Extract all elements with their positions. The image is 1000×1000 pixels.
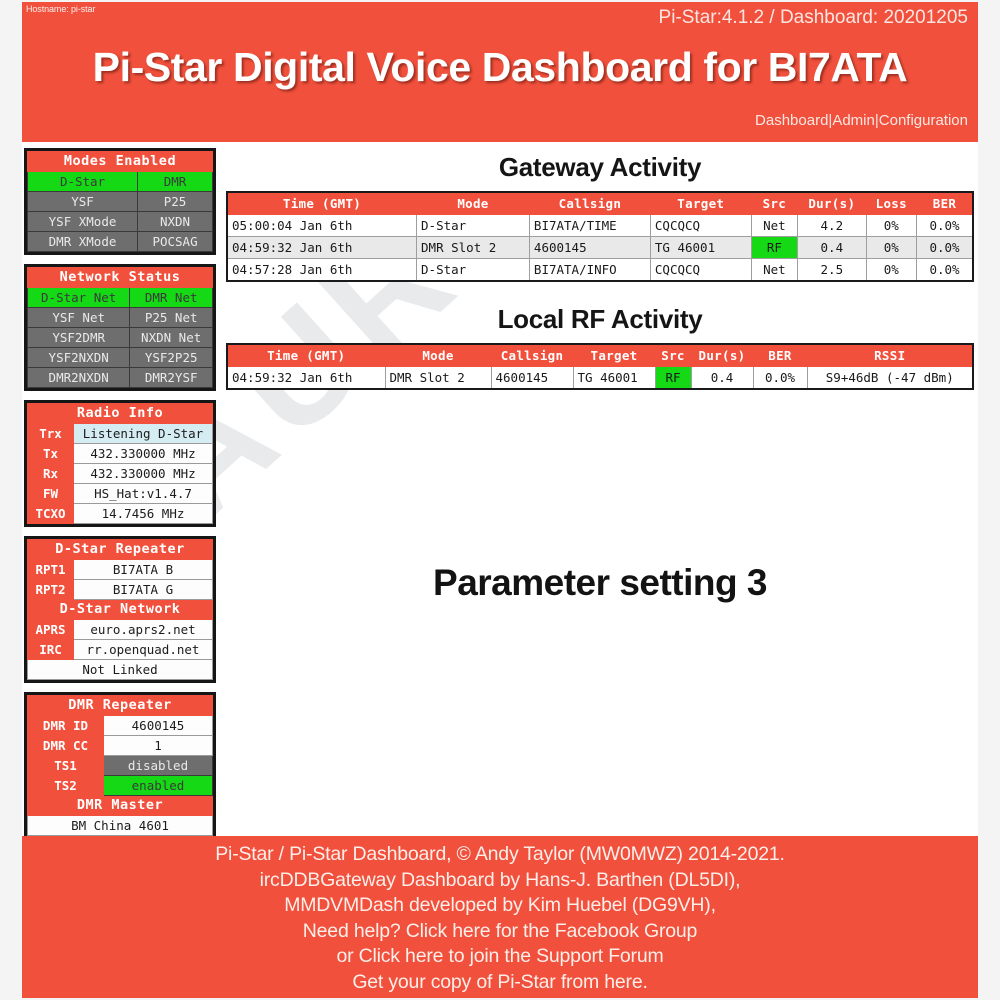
local-rf-activity-table: Time (GMT) Mode Callsign Target Src Dur(… — [226, 343, 974, 390]
panel-title-dstar-network: D-Star Network — [28, 600, 213, 620]
net-dmr2ysf: DMR2YSF — [130, 368, 213, 388]
dmr-master-value: BM China 4601 — [28, 816, 213, 836]
gw-r0-callsign[interactable]: BI7ATA/TIME — [529, 215, 650, 237]
gw-r0-ber: 0.0% — [916, 215, 973, 237]
dstar-value-irc: rr.openquad.net — [74, 640, 213, 660]
panel-radio-info: Radio Info Trx Listening D-Star Tx 432.3… — [24, 400, 216, 527]
table-row: 04:59:32 Jan 6th DMR Slot 2 4600145 TG 4… — [227, 367, 973, 390]
gw-r2-mode: D-Star — [417, 259, 530, 282]
mode-p25: P25 — [138, 192, 213, 212]
radio-label-tx: Tx — [28, 444, 74, 464]
gw-r1-callsign[interactable]: 4600145 — [529, 237, 650, 259]
rf-r0-mode: DMR Slot 2 — [385, 367, 491, 390]
gw-r0-time: 05:00:04 Jan 6th — [227, 215, 417, 237]
gw-r0-mode: D-Star — [417, 215, 530, 237]
mode-ysf-xmode: YSF XMode — [28, 212, 138, 232]
page-title: Pi-Star Digital Voice Dashboard for BI7A… — [22, 44, 978, 91]
table-row: 05:00:04 Jan 6th D-Star BI7ATA/TIME CQCQ… — [227, 215, 973, 237]
panel-dmr: DMR Repeater DMR ID 4600145 DMR CC 1 TS1… — [24, 692, 216, 836]
radio-value-tcxo: 14.7456 MHz — [74, 504, 213, 524]
dmr-label-cc: DMR CC — [28, 736, 104, 756]
gw-col-target: Target — [650, 192, 751, 215]
sidebar: Modes Enabled D-Star DMR YSF P25 YSF XMo… — [24, 148, 216, 836]
overlay-note: Parameter setting 3 — [222, 562, 978, 604]
radio-label-fw: FW — [28, 484, 74, 504]
dmr-value-ts2: enabled — [104, 776, 213, 796]
footer-link-get-copy[interactable]: Get your copy of Pi-Star from here. — [22, 970, 978, 996]
gw-r0-dur: 4.2 — [798, 215, 867, 237]
gateway-activity-table: Time (GMT) Mode Callsign Target Src Dur(… — [226, 191, 974, 282]
mode-dstar: D-Star — [28, 172, 138, 192]
mode-nxdn: NXDN — [138, 212, 213, 232]
net-ysf2dmr: YSF2DMR — [28, 328, 130, 348]
table-header-row: Time (GMT) Mode Callsign Target Src Dur(… — [227, 192, 973, 215]
footer-line-mmdvmdash: MMDVMDash developed by Kim Huebel (DG9VH… — [22, 893, 978, 919]
gw-r1-src: RF — [751, 237, 797, 259]
rf-col-target: Target — [573, 344, 655, 367]
gw-r2-src: Net — [751, 259, 797, 282]
rf-col-src: Src — [655, 344, 691, 367]
gw-col-mode: Mode — [417, 192, 530, 215]
rf-r0-callsign[interactable]: 4600145 — [491, 367, 573, 390]
main-content: Gateway Activity Time (GMT) Mode Callsig… — [222, 142, 978, 836]
table-row: 04:57:28 Jan 6th D-Star BI7ATA/INFO CQCQ… — [227, 259, 973, 282]
panel-network-status: Network Status D-Star Net DMR Net YSF Ne… — [24, 264, 216, 391]
gw-r2-ber: 0.0% — [916, 259, 973, 282]
rf-r0-ber: 0.0% — [753, 367, 807, 390]
net-p25: P25 Net — [130, 308, 213, 328]
nav-link-admin[interactable]: Admin — [832, 112, 875, 129]
nav-links: Dashboard|Admin|Configuration — [755, 112, 968, 129]
rf-r0-dur: 0.4 — [691, 367, 753, 390]
net-nxdn: NXDN Net — [130, 328, 213, 348]
net-dmr2nxdn: DMR2NXDN — [28, 368, 130, 388]
dashboard-shell: Hostname: pi-star Pi-Star:4.1.2 / Dashbo… — [22, 2, 978, 998]
panel-title-modes-enabled: Modes Enabled — [28, 152, 213, 172]
footer-link-support-forum[interactable]: or Click here to join the Support Forum — [22, 944, 978, 970]
gw-r1-target: TG 46001 — [650, 237, 751, 259]
panel-title-dmr-master: DMR Master — [28, 796, 213, 816]
net-dmr: DMR Net — [130, 288, 213, 308]
panel-modes-enabled: Modes Enabled D-Star DMR YSF P25 YSF XMo… — [24, 148, 216, 255]
gateway-activity-title: Gateway Activity — [222, 142, 978, 191]
gw-r2-dur: 2.5 — [798, 259, 867, 282]
dstar-label-aprs: APRS — [28, 620, 74, 640]
net-ysf: YSF Net — [28, 308, 130, 328]
panel-title-dstar-repeater: D-Star Repeater — [28, 540, 213, 560]
panel-title-dmr-repeater: DMR Repeater — [28, 696, 213, 716]
panel-title-radio-info: Radio Info — [28, 404, 213, 424]
gw-r2-time: 04:57:28 Jan 6th — [227, 259, 417, 282]
gw-r0-loss: 0% — [866, 215, 916, 237]
mode-dmr-xmode: DMR XMode — [28, 232, 138, 252]
footer-line-copyright: Pi-Star / Pi-Star Dashboard, © Andy Tayl… — [22, 842, 978, 868]
net-dstar: D-Star Net — [28, 288, 130, 308]
dstar-value-rpt1: BI7ATA B — [74, 560, 213, 580]
gw-r2-loss: 0% — [866, 259, 916, 282]
net-ysf2nxdn: YSF2NXDN — [28, 348, 130, 368]
net-ysf2p25: YSF2P25 — [130, 348, 213, 368]
hostname-label: Hostname: pi-star — [26, 4, 95, 14]
footer-line-ircddbgateway: ircDDBGateway Dashboard by Hans-J. Barth… — [22, 868, 978, 894]
dstar-value-rpt2: BI7ATA G — [74, 580, 213, 600]
gw-col-time: Time (GMT) — [227, 192, 417, 215]
local-rf-activity-title: Local RF Activity — [222, 282, 978, 343]
version-label: Pi-Star:4.1.2 / Dashboard: 20201205 — [659, 7, 968, 29]
panel-title-network-status: Network Status — [28, 268, 213, 288]
rf-r0-target: TG 46001 — [573, 367, 655, 390]
rf-col-ber: BER — [753, 344, 807, 367]
nav-link-configuration[interactable]: Configuration — [879, 112, 968, 129]
gw-r0-src: Net — [751, 215, 797, 237]
radio-label-trx: Trx — [28, 424, 74, 444]
mode-ysf: YSF — [28, 192, 138, 212]
table-row: 04:59:32 Jan 6th DMR Slot 2 4600145 TG 4… — [227, 237, 973, 259]
gw-r2-callsign[interactable]: BI7ATA/INFO — [529, 259, 650, 282]
gw-col-dur: Dur(s) — [798, 192, 867, 215]
rf-r0-src: RF — [655, 367, 691, 390]
panel-dstar: D-Star Repeater RPT1 BI7ATA B RPT2 BI7AT… — [24, 536, 216, 683]
radio-value-trx: Listening D-Star — [74, 424, 213, 444]
dmr-label-id: DMR ID — [28, 716, 104, 736]
dmr-value-ts1: disabled — [104, 756, 213, 776]
gw-r1-mode: DMR Slot 2 — [417, 237, 530, 259]
dstar-link-status: Not Linked — [28, 660, 213, 680]
rf-col-time: Time (GMT) — [227, 344, 385, 367]
radio-label-tcxo: TCXO — [28, 504, 74, 524]
rf-r0-rssi: S9+46dB (-47 dBm) — [807, 367, 973, 390]
radio-value-fw: HS_Hat:v1.4.7 — [74, 484, 213, 504]
gw-col-loss: Loss — [866, 192, 916, 215]
rf-col-rssi: RSSI — [807, 344, 973, 367]
rf-col-mode: Mode — [385, 344, 491, 367]
dmr-value-cc: 1 — [104, 736, 213, 756]
gw-col-src: Src — [751, 192, 797, 215]
gw-r1-dur: 0.4 — [798, 237, 867, 259]
nav-link-dashboard[interactable]: Dashboard — [755, 112, 828, 129]
dstar-label-rpt2: RPT2 — [28, 580, 74, 600]
gw-r1-loss: 0% — [866, 237, 916, 259]
footer-link-facebook-group[interactable]: Need help? Click here for the Facebook G… — [22, 919, 978, 945]
gw-col-callsign: Callsign — [529, 192, 650, 215]
rf-r0-time: 04:59:32 Jan 6th — [227, 367, 385, 390]
gw-r0-target: CQCQCQ — [650, 215, 751, 237]
rf-col-callsign: Callsign — [491, 344, 573, 367]
dmr-label-ts2: TS2 — [28, 776, 104, 796]
dmr-label-ts1: TS1 — [28, 756, 104, 776]
radio-value-tx: 432.330000 MHz — [74, 444, 213, 464]
radio-value-rx: 432.330000 MHz — [74, 464, 213, 484]
gw-r1-time: 04:59:32 Jan 6th — [227, 237, 417, 259]
content-area: AURSINC Modes Enabled D-Star DMR YSF P25 — [22, 142, 978, 836]
footer: Pi-Star / Pi-Star Dashboard, © Andy Tayl… — [22, 836, 978, 998]
mode-dmr: DMR — [138, 172, 213, 192]
dmr-value-id: 4600145 — [104, 716, 213, 736]
dstar-value-aprs: euro.aprs2.net — [74, 620, 213, 640]
radio-label-rx: Rx — [28, 464, 74, 484]
table-header-row: Time (GMT) Mode Callsign Target Src Dur(… — [227, 344, 973, 367]
gw-col-ber: BER — [916, 192, 973, 215]
rf-col-dur: Dur(s) — [691, 344, 753, 367]
gw-r2-target: CQCQCQ — [650, 259, 751, 282]
dstar-label-irc: IRC — [28, 640, 74, 660]
dstar-label-rpt1: RPT1 — [28, 560, 74, 580]
mode-pocsag: POCSAG — [138, 232, 213, 252]
gw-r1-ber: 0.0% — [916, 237, 973, 259]
dashboard-page: Hostname: pi-star Pi-Star:4.1.2 / Dashbo… — [0, 0, 1000, 1000]
